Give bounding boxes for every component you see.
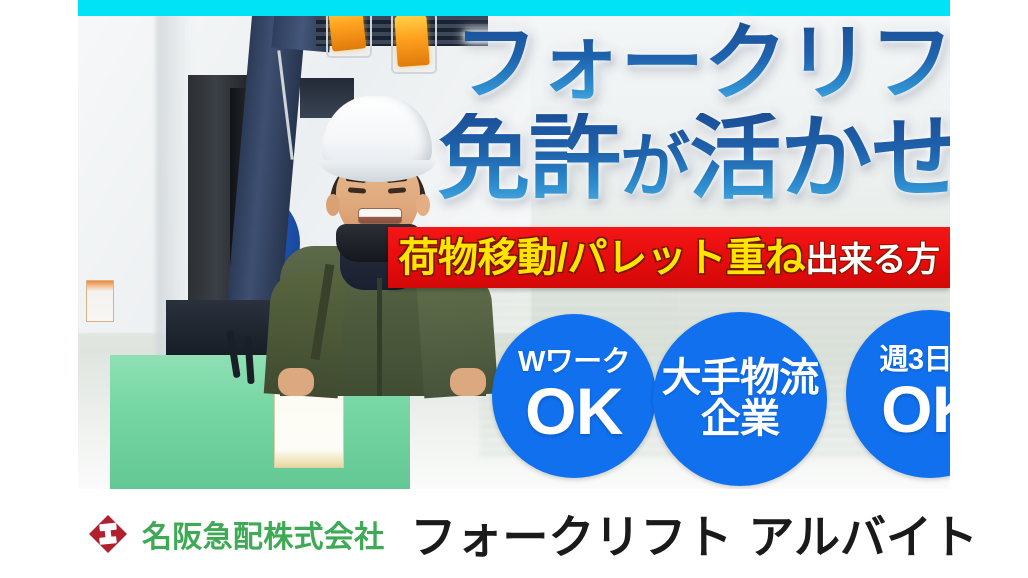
- company-name: 名阪急配株式会社: [142, 512, 384, 556]
- headline-line-1: フォークリフトの: [454, 21, 950, 111]
- requirement-plain: 出来る方: [805, 241, 939, 279]
- operator-ear-right: [416, 194, 430, 216]
- badge-3-top-label: 週3日〜: [880, 346, 950, 375]
- operator-right-hand: [450, 368, 486, 396]
- badge-2-main-label: 企業: [701, 399, 779, 440]
- requirement-text: 荷物移動/パレット重ね出来る方: [398, 238, 939, 278]
- amber-beacon-light-right: [394, 13, 430, 67]
- job-title: フォークリフトアルバイト: [410, 501, 978, 567]
- footer-content: 名阪急配株式会社 フォークリフトアルバイト: [86, 501, 978, 567]
- headline-line1-main: フォークリフト: [454, 16, 950, 110]
- cyan-top-strip: [78, 0, 950, 16]
- operator-smile: [358, 208, 402, 224]
- headline-line2-particle: が: [620, 127, 689, 205]
- forklift-warning-sticker: [86, 280, 114, 322]
- badge-w-work-ok: Wワーク OK: [492, 314, 656, 478]
- requirement-red-banner: 荷物移動/パレット重ね出来る方: [388, 227, 950, 288]
- operator-jacket-zip: [377, 278, 382, 396]
- badge-major-logistics-company: 大手物流 企業: [653, 312, 827, 486]
- meihan-diamond-logo-icon: [86, 512, 130, 556]
- job-advert-banner: フォークリフトの 免許が活かせる！ 荷物移動/パレット重ね出来る方 Wワーク O…: [0, 0, 1028, 578]
- job-title-part2: アルバイト: [748, 511, 978, 563]
- job-title-part1: フォークリフト: [410, 511, 732, 563]
- badge-3-main-label: OK: [881, 377, 950, 442]
- headline-line-2: 免許が活かせる！: [438, 113, 950, 212]
- headline-line2-part2: 活かせる: [689, 108, 950, 210]
- badge-1-top-label: Wワーク: [518, 348, 630, 377]
- headline-line2-part1: 免許: [438, 108, 620, 210]
- requirement-highlight: 荷物移動/パレット重ね: [398, 236, 805, 280]
- hero-photo-area: フォークリフトの 免許が活かせる！ 荷物移動/パレット重ね出来る方 Wワーク O…: [78, 0, 950, 489]
- badge-2-top-label: 大手物流: [662, 358, 819, 399]
- footer-bar: 名阪急配株式会社 フォークリフトアルバイト: [0, 489, 1028, 578]
- operator-left-hand: [278, 368, 314, 396]
- operator-ear-left: [326, 194, 340, 216]
- badge-1-main-label: OK: [525, 379, 623, 444]
